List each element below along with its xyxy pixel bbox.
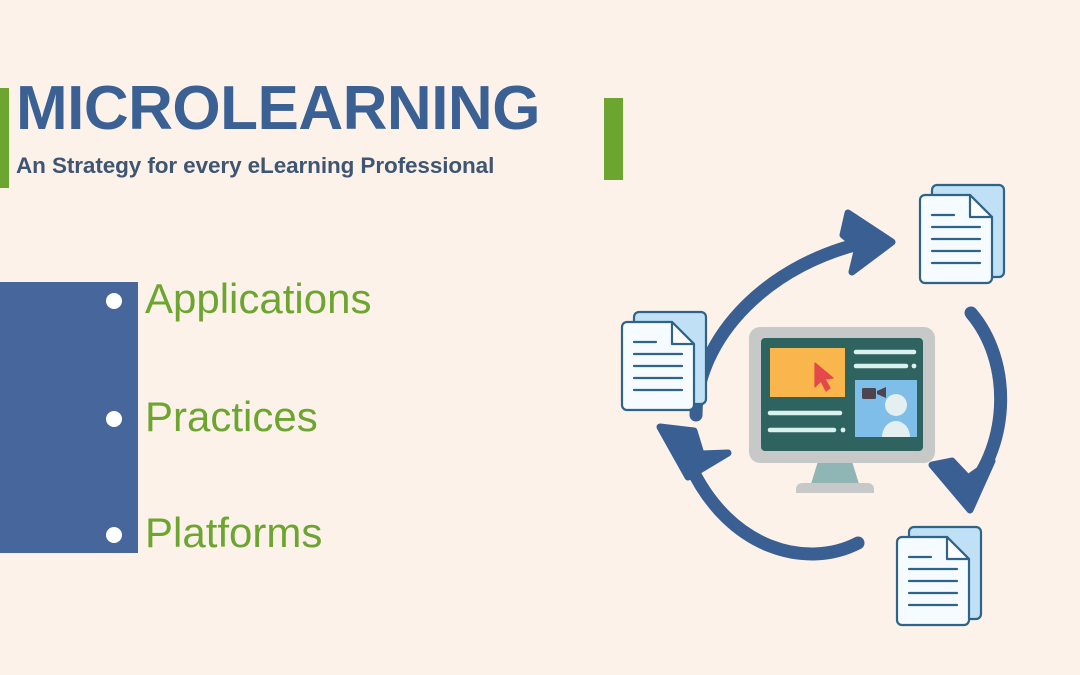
highlight-panel bbox=[770, 348, 845, 397]
title-block: MICROLEARNING An Strategy for every eLea… bbox=[0, 84, 640, 190]
page-subtitle: An Strategy for every eLearning Professi… bbox=[16, 155, 494, 178]
document-icon bbox=[920, 185, 1004, 283]
curved-arrow-right-icon bbox=[932, 313, 1001, 510]
video-panel bbox=[855, 380, 917, 437]
accent-bar-left bbox=[0, 88, 9, 188]
list-item-label: Practices bbox=[145, 389, 318, 445]
bullet-dot-icon bbox=[106, 411, 122, 427]
bullet-dot-icon bbox=[106, 527, 122, 543]
slide-canvas: MICROLEARNING An Strategy for every eLea… bbox=[0, 0, 1080, 675]
microlearning-cycle-diagram bbox=[600, 165, 1070, 655]
document-icon bbox=[622, 312, 706, 410]
monitor-icon bbox=[749, 327, 935, 493]
bullet-dot-icon bbox=[106, 293, 122, 309]
list-item-label: Platforms bbox=[145, 505, 322, 561]
list-item-label: Applications bbox=[145, 271, 371, 327]
page-title: MICROLEARNING bbox=[16, 78, 540, 140]
document-icon bbox=[897, 527, 981, 625]
